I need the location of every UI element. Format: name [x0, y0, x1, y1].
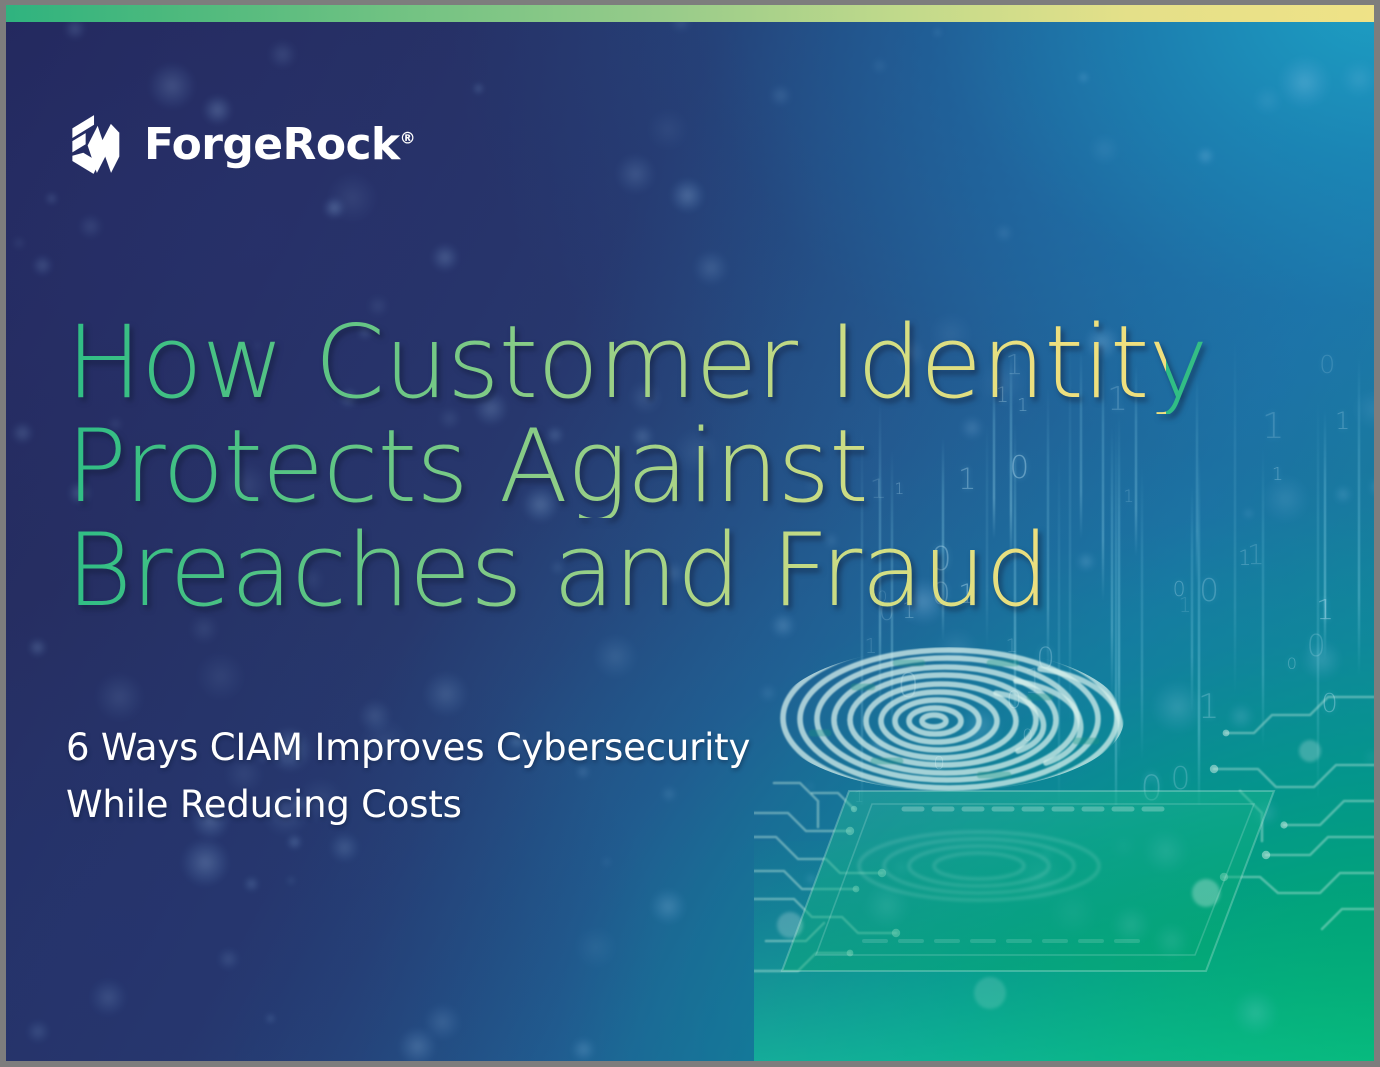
bokeh-dot — [431, 243, 460, 272]
bokeh-dot — [45, 192, 58, 205]
binary-digit: 1 — [1335, 407, 1350, 435]
binary-digit: 0 — [1319, 350, 1335, 379]
bokeh-dot — [473, 83, 484, 94]
bokeh-dot — [78, 214, 104, 240]
binary-digit: 1 — [864, 634, 877, 658]
bokeh-dot — [1110, 833, 1137, 860]
wordmark-text: ForgeRock — [144, 119, 400, 170]
bokeh-dot — [181, 838, 231, 888]
bokeh-dot — [11, 422, 33, 444]
bokeh-dot — [423, 671, 469, 717]
bokeh-dot — [327, 172, 379, 224]
binary-digit: 0 — [1140, 769, 1162, 805]
bokeh-dot — [571, 1037, 596, 1061]
bokeh-dot — [1049, 888, 1097, 936]
bokeh-dot — [892, 859, 911, 878]
bokeh-dot — [601, 857, 612, 868]
bokeh-dot — [615, 154, 655, 194]
bokeh-dot — [266, 1014, 275, 1023]
binary-digit: 1 — [1247, 538, 1265, 571]
bokeh-dot — [805, 873, 817, 885]
bokeh-dot — [670, 178, 705, 213]
title-line-2: Protects Against — [66, 414, 1206, 518]
bokeh-dot — [196, 652, 245, 701]
bokeh-dot — [805, 781, 815, 791]
bokeh-dot — [693, 250, 729, 286]
bokeh-dot — [32, 255, 52, 275]
bokeh-dot — [26, 1020, 49, 1043]
bokeh-dot — [28, 638, 47, 657]
binary-digit: 0 — [1171, 761, 1191, 797]
top-accent-bar — [6, 5, 1374, 22]
bokeh-dot — [1340, 60, 1374, 98]
binary-digit: 1 — [1262, 406, 1285, 447]
bokeh-dot — [593, 634, 638, 679]
title-line-1: How Customer Identity — [66, 310, 1206, 414]
binary-digit: 1 — [1272, 464, 1283, 485]
ebook-cover: 0101101011001101011010011010110110010110 — [6, 5, 1374, 1061]
bokeh-dot — [864, 883, 910, 929]
bokeh-dot — [574, 926, 617, 969]
bokeh-dot — [244, 876, 260, 892]
binary-light-streak — [1234, 337, 1236, 696]
subtitle-line-2: While Reducing Costs — [66, 776, 750, 833]
binary-digit: 0 — [1022, 726, 1033, 746]
bokeh-dot — [398, 1027, 437, 1061]
cover-page-frame: 0101101011001101011010011010110110010110 — [0, 0, 1380, 1067]
binary-digit: 1 — [1316, 593, 1334, 626]
binary-digit: 0 — [897, 666, 919, 706]
bokeh-dot — [1143, 829, 1188, 874]
binary-digit: 0 — [1036, 641, 1054, 675]
binary-light-streak — [1358, 355, 1360, 675]
bokeh-dot — [933, 28, 943, 38]
bokeh-dot — [1078, 72, 1088, 82]
bokeh-dot — [995, 224, 1012, 241]
bokeh-dot — [650, 888, 687, 925]
cover-title: How Customer Identity Protects Against B… — [66, 310, 1206, 622]
bokeh-dot — [1038, 845, 1055, 862]
bokeh-dot — [1088, 133, 1121, 166]
binary-digit: 0 — [1287, 654, 1297, 673]
subtitle-line-1: 6 Ways CIAM Improves Cybersecurity — [66, 719, 750, 776]
bokeh-dot — [1196, 147, 1214, 165]
bokeh-dot — [1232, 990, 1278, 1036]
bokeh-dot — [647, 108, 690, 151]
bokeh-dot — [871, 58, 887, 74]
binary-digit: 0 — [1006, 686, 1021, 714]
binary-digit: 0 — [933, 753, 944, 774]
registered-trademark-symbol: ® — [400, 128, 416, 147]
forgerock-logo[interactable]: ForgeRock® — [64, 113, 416, 176]
binary-light-streak — [1262, 446, 1264, 750]
cover-subtitle: 6 Ways CIAM Improves Cybersecurity While… — [66, 719, 750, 833]
forgerock-wordmark: ForgeRock® — [144, 123, 416, 167]
bokeh-dot — [769, 84, 792, 107]
bokeh-dot — [759, 684, 777, 702]
bokeh-dot — [217, 948, 240, 971]
bokeh-dot — [286, 876, 296, 886]
bokeh-dot — [1153, 922, 1190, 959]
binary-digit: 1 — [1198, 687, 1220, 727]
bokeh-dot — [148, 62, 195, 109]
forgerock-hexagon-logo-mark-icon — [64, 113, 127, 176]
binary-digit: 1 — [1006, 635, 1018, 657]
bokeh-dot — [268, 40, 297, 69]
binary-digit: 0 — [1307, 629, 1326, 664]
binary-digit: 0 — [1321, 689, 1338, 719]
bokeh-dot — [95, 672, 145, 722]
title-line-3: Breaches and Fraud — [66, 518, 1206, 622]
bokeh-dot — [12, 236, 26, 250]
bokeh-dot — [329, 832, 360, 863]
binary-digit: 1 — [854, 787, 864, 805]
bokeh-dot — [1111, 905, 1151, 945]
bokeh-dot — [1278, 56, 1331, 109]
bokeh-dot — [90, 979, 127, 1016]
